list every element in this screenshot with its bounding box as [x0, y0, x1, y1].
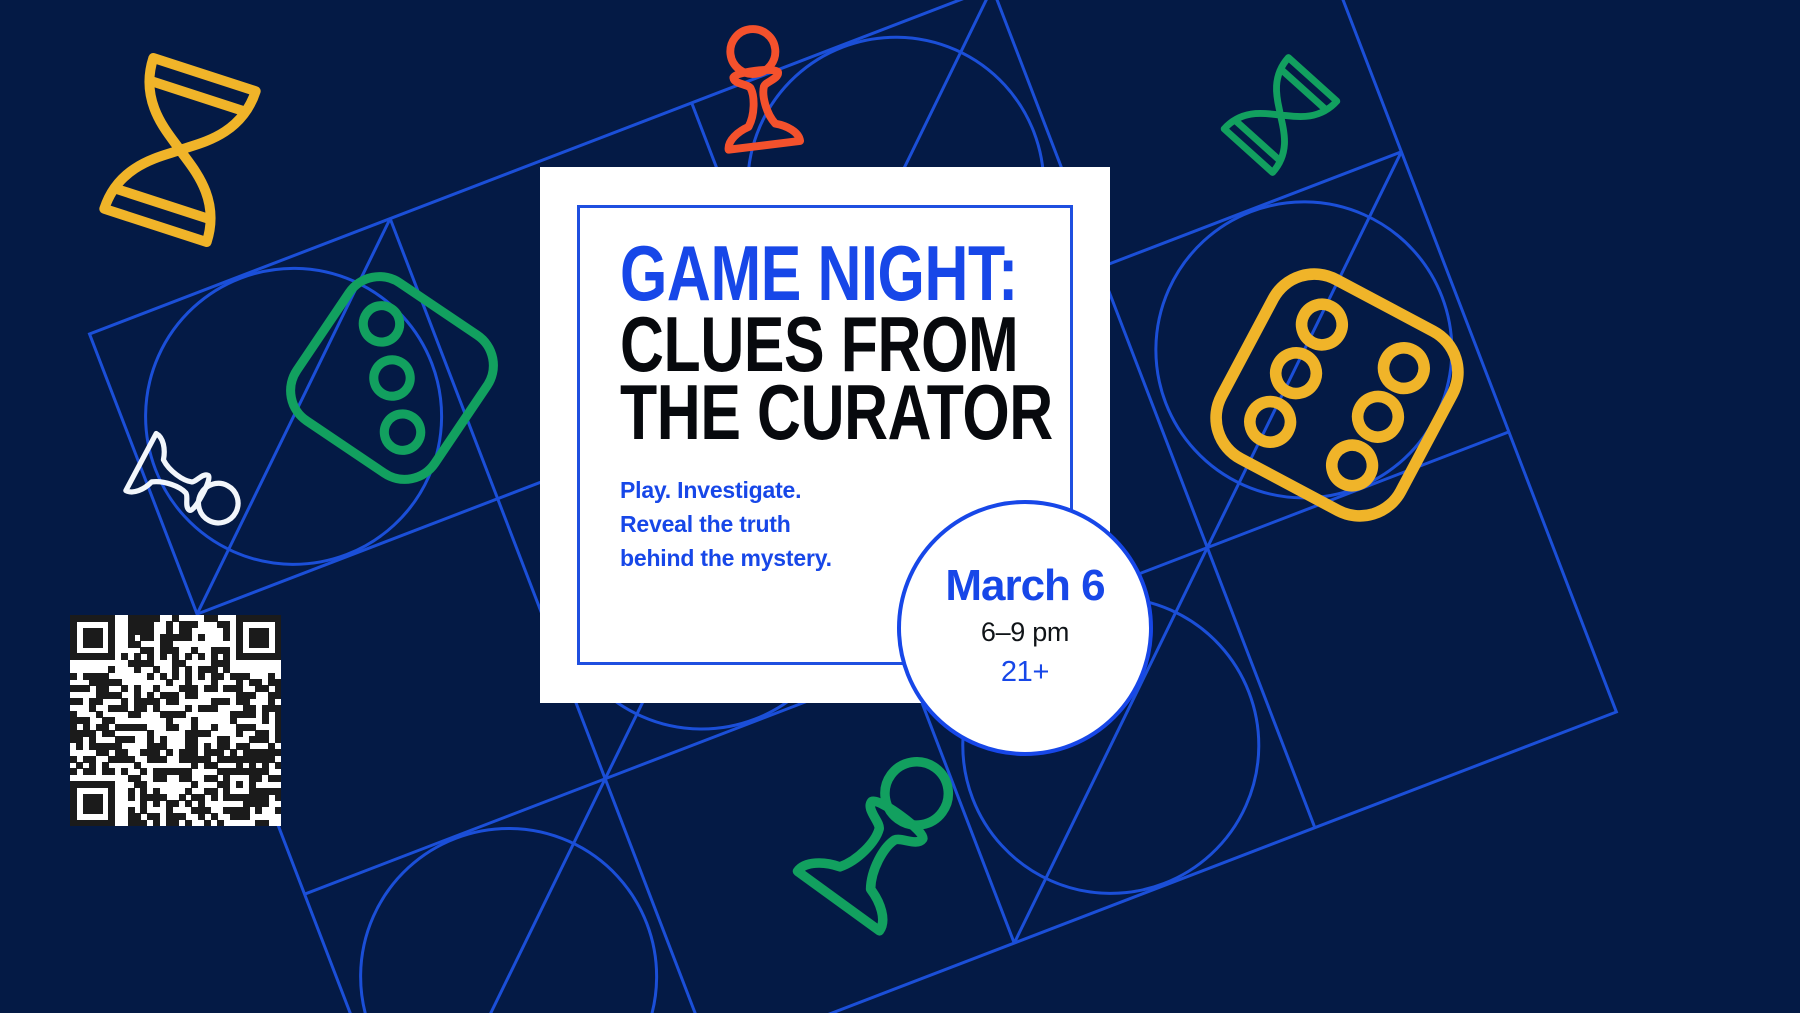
poster-canvas: GAME NIGHT: CLUES FROM THE CURATOR Play.…: [0, 0, 1800, 1013]
chess-pawn-icon-white: [122, 424, 252, 549]
die-icon-yellow-six: [1192, 250, 1482, 540]
hourglass-icon-green: [1228, 55, 1333, 175]
qr-code[interactable]: [70, 615, 281, 826]
hourglass-icon-yellow: [95, 50, 265, 250]
headline-line-3: THE CURATOR: [620, 378, 966, 447]
badge-date: March 6: [945, 564, 1104, 609]
headline-line-1: GAME NIGHT:: [620, 239, 966, 308]
date-badge: March 6 6–9 pm 21+: [897, 500, 1153, 756]
die-icon-green-three: [262, 248, 522, 508]
qr-code-canvas: [70, 615, 281, 826]
badge-age-restriction: 21+: [1001, 654, 1049, 692]
badge-time: 6–9 pm: [981, 612, 1069, 653]
chess-pawn-icon-green: [790, 742, 980, 932]
chess-pawn-icon-red: [700, 22, 815, 157]
